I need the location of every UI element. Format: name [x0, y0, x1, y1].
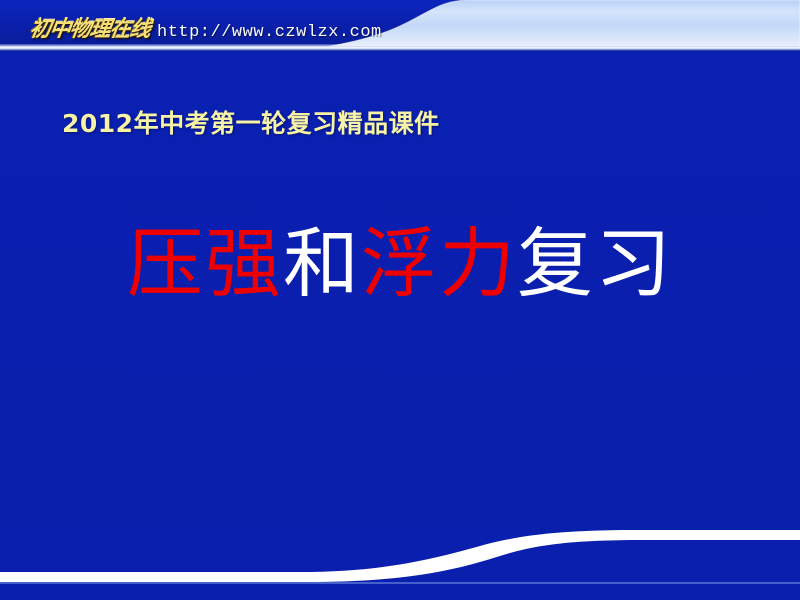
title-part-fuxi: 复习 — [517, 219, 673, 308]
presentation-slide: 初中物理在线 http://www.czwlzx.com 2012年中考第一轮复… — [0, 0, 800, 600]
footer-swoosh-shape — [0, 530, 800, 600]
site-branding: 初中物理在线 http://www.czwlzx.com — [30, 13, 382, 43]
site-logo-text: 初中物理在线 — [28, 13, 152, 43]
header-divider-rule — [0, 44, 800, 51]
slide-title: 压强和浮力复习 — [0, 224, 800, 304]
title-part-yaqiang: 压强 — [127, 219, 283, 308]
title-part-he: 和 — [283, 219, 361, 308]
title-part-fuli: 浮力 — [361, 219, 517, 308]
site-url-text: http://www.czwlzx.com — [157, 23, 382, 42]
footer-decoration — [0, 530, 800, 600]
slide-subtitle: 2012年中考第一轮复习精品课件 — [62, 104, 440, 140]
